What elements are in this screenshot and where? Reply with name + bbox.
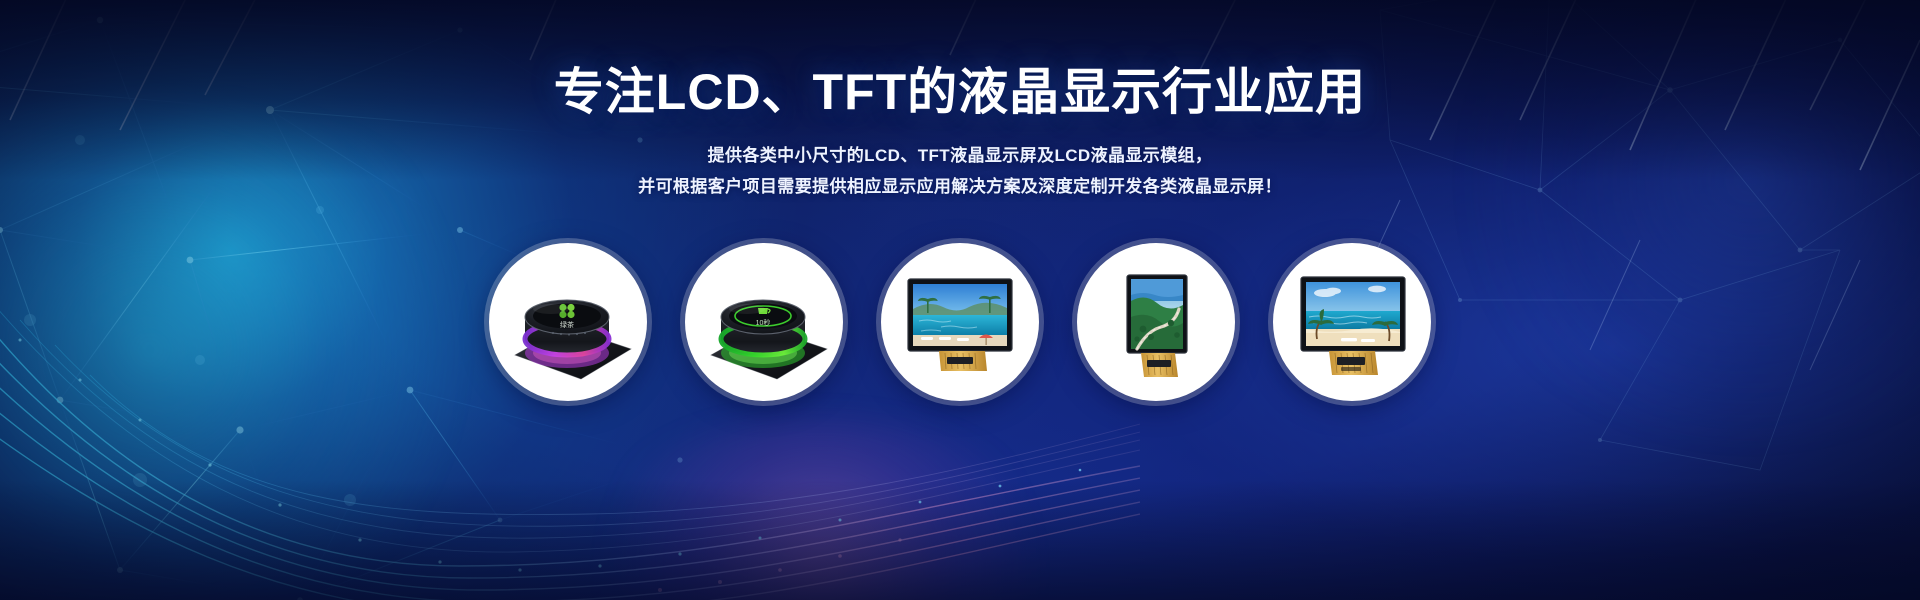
- smart-round-device-green-illustration: 10秒: [685, 243, 843, 401]
- svg-text:10秒: 10秒: [756, 318, 771, 327]
- banner-copy: 专注LCD、TFT的液晶显示行业应用 提供各类中小尺寸的LCD、TFT液晶显示屏…: [0, 62, 1920, 202]
- subtitle-line-1: 提供各类中小尺寸的LCD、TFT液晶显示屏及LCD液晶显示模组，: [0, 140, 1920, 171]
- banner-stage: 专注LCD、TFT的液晶显示行业应用 提供各类中小尺寸的LCD、TFT液晶显示屏…: [0, 0, 1920, 600]
- product-circle-smart-round-device-purple[interactable]: 绿茶: [489, 243, 647, 401]
- tft-lcd-landscape-illustration: [881, 243, 1039, 401]
- tft-lcd-portrait-illustration: [1077, 243, 1235, 401]
- product-circle-tft-lcd-landscape-panel[interactable]: [881, 243, 1039, 401]
- product-circle-tft-lcd-wide-panel[interactable]: [1273, 243, 1431, 401]
- svg-text:绿茶: 绿茶: [560, 320, 574, 329]
- product-showcase: 绿茶: [0, 243, 1920, 403]
- banner-subtitle: 提供各类中小尺寸的LCD、TFT液晶显示屏及LCD液晶显示模组， 并可根据客户项…: [0, 140, 1920, 202]
- page-title: 专注LCD、TFT的液晶显示行业应用: [0, 62, 1920, 122]
- product-circle-tft-lcd-portrait-panel[interactable]: [1077, 243, 1235, 401]
- tft-lcd-wide-illustration: [1273, 243, 1431, 401]
- smart-round-device-purple-illustration: 绿茶: [489, 243, 647, 401]
- subtitle-line-2: 并可根据客户项目需要提供相应显示应用解决方案及深度定制开发各类液晶显示屏！: [0, 171, 1920, 202]
- product-circle-smart-round-device-green[interactable]: 10秒: [685, 243, 843, 401]
